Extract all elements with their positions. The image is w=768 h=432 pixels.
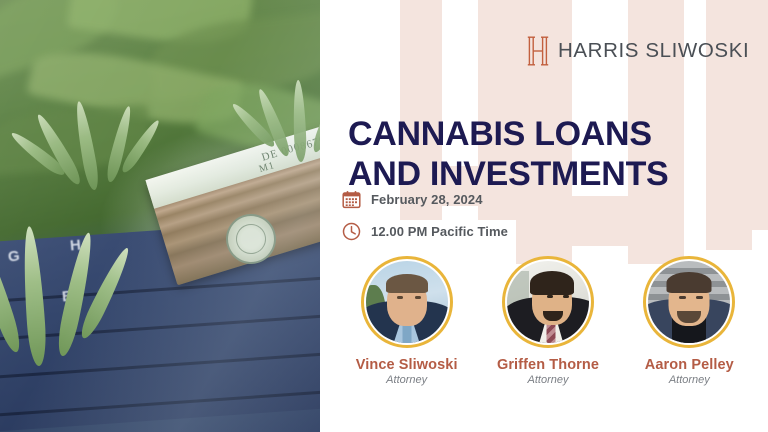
- speaker-role: Attorney: [386, 374, 427, 386]
- speaker-role: Attorney: [528, 374, 569, 386]
- calendar-icon: [342, 190, 361, 209]
- avatar-ring: [361, 256, 453, 348]
- speaker-name: Griffen Thorne: [497, 357, 599, 373]
- speaker-list: Vince Sliwoski Attorney: [336, 256, 760, 386]
- speaker-name: Vince Sliwoski: [356, 357, 458, 373]
- speaker-name: Aaron Pelley: [645, 357, 734, 373]
- content-panel: HARRIS SLIWOSKI CANNABIS LOANS AND INVES…: [320, 0, 768, 432]
- brand-name: HARRIS SLIWOSKI: [558, 39, 749, 63]
- event-meta: February 28, 2024 12.00 PM Pacific Time: [342, 186, 508, 250]
- event-time-row: 12.00 PM Pacific Time: [342, 218, 508, 245]
- avatar: [366, 261, 448, 343]
- speaker-card[interactable]: Aaron Pelley Attorney: [619, 256, 760, 386]
- speaker-role: Attorney: [669, 374, 710, 386]
- event-date: February 28, 2024: [371, 192, 483, 207]
- brand-logo[interactable]: HARRIS SLIWOSKI: [527, 36, 749, 66]
- avatar: [507, 261, 589, 343]
- event-date-row: February 28, 2024: [342, 186, 508, 213]
- title-line-1: CANNABIS LOANS: [348, 115, 652, 153]
- hero-photo: G H B DE 000 M1 8679: [0, 0, 320, 432]
- speaker-card[interactable]: Vince Sliwoski Attorney: [336, 256, 477, 386]
- photo-overlay-sheen: [0, 0, 320, 432]
- page-title: CANNABIS LOANS AND INVESTMENTS: [348, 115, 758, 195]
- clock-icon: [342, 222, 361, 241]
- event-time: 12.00 PM Pacific Time: [371, 224, 508, 239]
- harris-h-monogram-icon: [527, 36, 549, 66]
- avatar: [648, 261, 730, 343]
- speaker-card[interactable]: Griffen Thorne Attorney: [477, 256, 618, 386]
- avatar-ring: [643, 256, 735, 348]
- avatar-ring: [502, 256, 594, 348]
- webinar-announcement-slide: G H B DE 000 M1 8679: [0, 0, 768, 432]
